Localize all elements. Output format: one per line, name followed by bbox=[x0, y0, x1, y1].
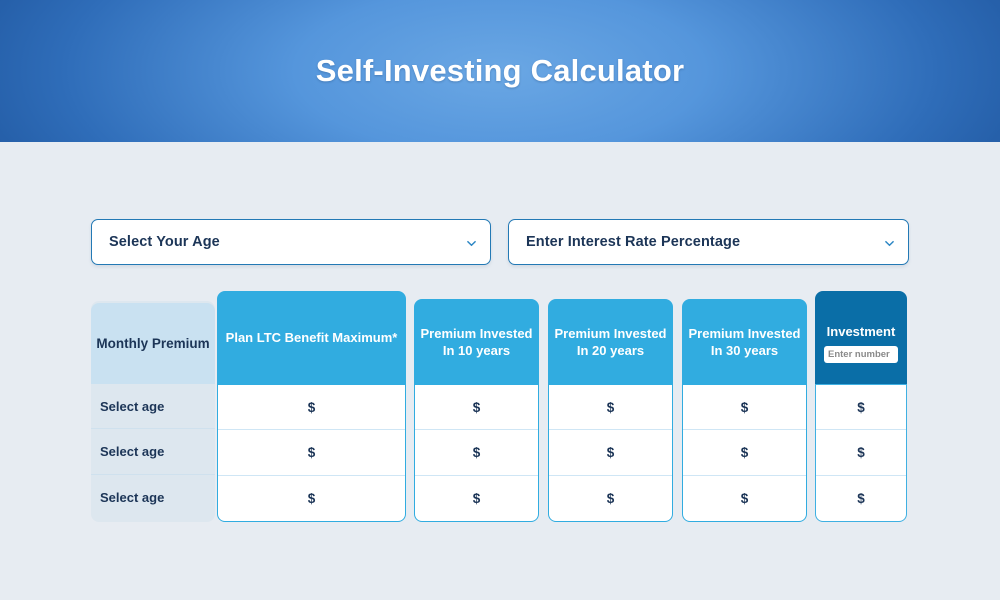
ltc-benefit-cells: $ $ $ bbox=[217, 384, 406, 522]
table-column-ltc-benefit: Plan LTC Benefit Maximum* $ $ $ bbox=[215, 291, 408, 522]
header-line-1: Premium Invested bbox=[555, 326, 667, 341]
table-column-invested-20-years: Premium InvestedIn 20 years $ $ $ bbox=[546, 291, 675, 522]
invested-10-years-cells: $ $ $ bbox=[414, 384, 539, 522]
column-header-invested-10-years: Premium InvestedIn 10 years bbox=[414, 299, 539, 384]
table-row: $ bbox=[816, 476, 906, 521]
table-row: $ bbox=[218, 476, 405, 521]
selector-row: Select Your Age Enter Interest Rate Perc… bbox=[91, 219, 909, 265]
table-row: $ bbox=[549, 430, 672, 475]
app-header: Self-Investing Calculator bbox=[0, 0, 1000, 142]
header-line-2: In 20 years bbox=[577, 343, 644, 358]
invested-30-years-cells: $ $ $ bbox=[682, 384, 807, 522]
investment-cells: $ $ $ bbox=[815, 384, 907, 522]
chevron-down-icon bbox=[467, 239, 476, 248]
invested-20-years-cells: $ $ $ bbox=[548, 384, 673, 522]
interest-rate-dropdown[interactable]: Enter Interest Rate Percentage bbox=[508, 219, 909, 265]
table-row: $ bbox=[683, 476, 806, 521]
table-row: $ bbox=[816, 430, 906, 475]
column-header-invested-30-years: Premium InvestedIn 30 years bbox=[682, 299, 807, 384]
investment-header-label: Investment bbox=[827, 323, 896, 340]
column-header-invested-20-years: Premium InvestedIn 20 years bbox=[548, 299, 673, 384]
table-row: $ bbox=[816, 385, 906, 430]
monthly-premium-cells: Select age Select age Select age bbox=[91, 384, 215, 522]
table-column-invested-30-years: Premium InvestedIn 30 years $ $ $ bbox=[680, 291, 809, 522]
table-row[interactable]: Select age bbox=[91, 384, 215, 429]
table-row: $ bbox=[549, 385, 672, 430]
table-row: $ bbox=[683, 385, 806, 430]
pricing-table: Monthly Premium Select age Select age Se… bbox=[91, 291, 909, 522]
age-select-label: Select Your Age bbox=[109, 220, 220, 264]
table-row: $ bbox=[415, 476, 538, 521]
age-select-dropdown[interactable]: Select Your Age bbox=[91, 219, 491, 265]
chevron-down-icon bbox=[885, 239, 894, 248]
column-header-monthly-premium: Monthly Premium bbox=[91, 303, 215, 384]
table-column-invested-10-years: Premium InvestedIn 10 years $ $ $ bbox=[412, 291, 541, 522]
table-row: $ bbox=[415, 385, 538, 430]
header-line-1: Premium Invested bbox=[421, 326, 533, 341]
investment-amount-input[interactable] bbox=[824, 346, 898, 363]
table-row: $ bbox=[218, 430, 405, 475]
table-row: $ bbox=[415, 430, 538, 475]
header-line-2: In 30 years bbox=[711, 343, 778, 358]
table-row: $ bbox=[683, 430, 806, 475]
header-line-1: Premium Invested bbox=[689, 326, 801, 341]
column-header-ltc-benefit: Plan LTC Benefit Maximum* bbox=[217, 291, 406, 384]
table-column-investment: Investment $ $ $ bbox=[813, 291, 909, 522]
table-row[interactable]: Select age bbox=[91, 429, 215, 474]
table-column-monthly-premium: Monthly Premium Select age Select age Se… bbox=[91, 291, 215, 522]
table-row: $ bbox=[218, 385, 405, 430]
interest-rate-label: Enter Interest Rate Percentage bbox=[526, 220, 740, 264]
table-row[interactable]: Select age bbox=[91, 475, 215, 520]
table-row: $ bbox=[549, 476, 672, 521]
header-line-2: In 10 years bbox=[443, 343, 510, 358]
page-title: Self-Investing Calculator bbox=[0, 0, 1000, 142]
column-header-investment: Investment bbox=[815, 291, 907, 384]
